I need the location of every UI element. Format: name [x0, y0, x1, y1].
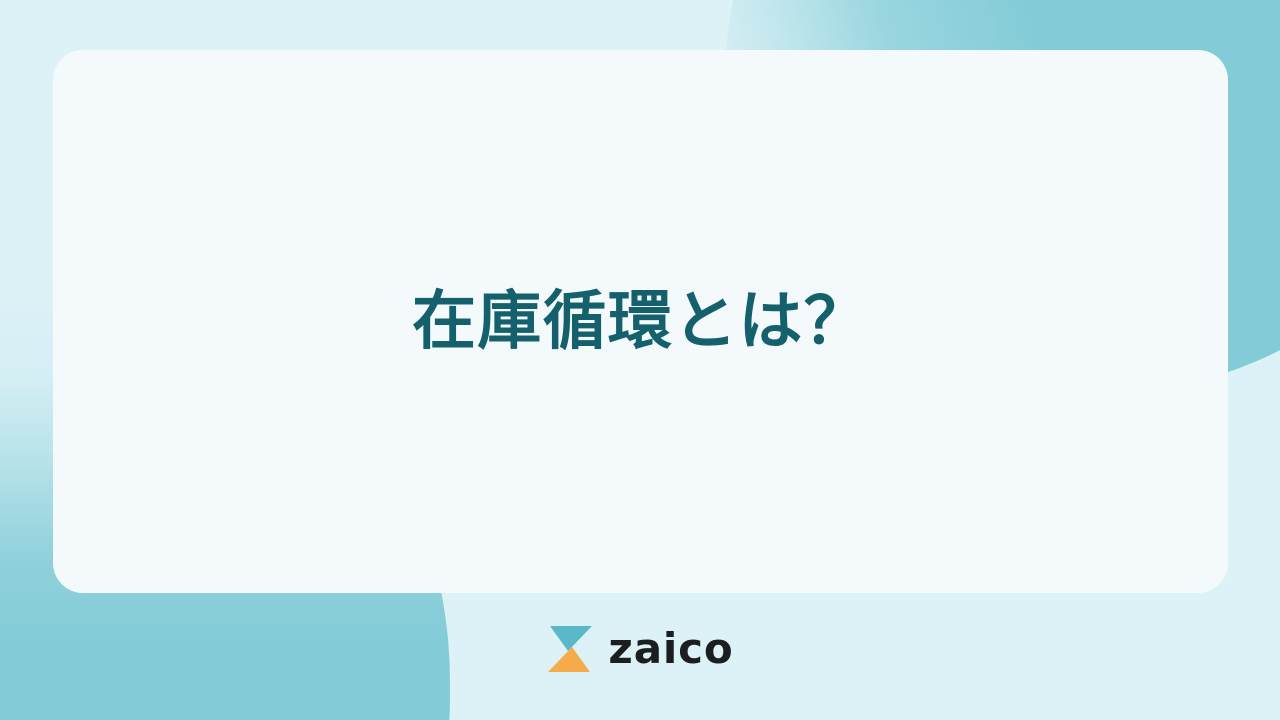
- content-card: 在庫循環とは？: [53, 50, 1228, 593]
- brand-logo: zaico: [0, 624, 1280, 674]
- slide-root: 在庫循環とは？ zaico: [0, 0, 1280, 720]
- zaico-hourglass-logo-icon: [546, 624, 594, 674]
- brand-wordmark: zaico: [608, 628, 733, 670]
- page-title: 在庫循環とは？: [412, 282, 869, 362]
